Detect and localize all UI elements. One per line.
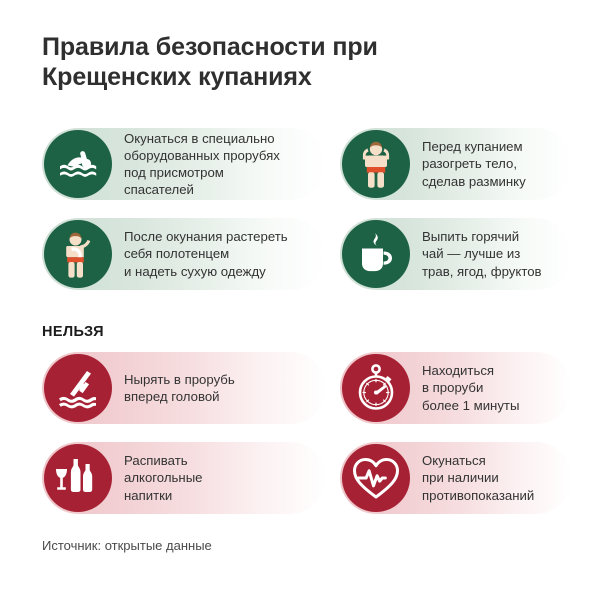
rule-card-towel-dry-clothes: После окунания растереть себя полотенцем… — [42, 218, 326, 290]
page-title: Правила безопасности при Крещенских купа… — [42, 32, 522, 92]
rule-card-text: Нырять в прорубь вперед головой — [124, 371, 235, 405]
source-note: Источник: открытые данные — [42, 538, 212, 553]
rule-card-text: Распивать алкогольные напитки — [124, 452, 203, 504]
swimmer-icon — [44, 130, 112, 198]
rule-card-text: Находиться в проруби более 1 минуты — [422, 362, 519, 414]
rule-card-hot-tea: Выпить горячий чай — лучше из трав, ягод… — [340, 218, 572, 290]
diving-person-icon — [44, 354, 112, 422]
person-with-towel-icon — [44, 220, 112, 288]
heart-pulse-icon — [342, 444, 410, 512]
rule-card-text: Окунаться при наличии противопоказаний — [422, 452, 534, 504]
infographic-root: Правила безопасности при Крещенских купа… — [0, 0, 600, 600]
rule-card-warm-up: Перед купанием разогреть тело, сделав ра… — [340, 128, 572, 200]
warmup-person-icon — [342, 130, 410, 198]
stopwatch-icon — [342, 354, 410, 422]
rule-card-text: Перед купанием разогреть тело, сделав ра… — [422, 138, 526, 190]
rule-card-no-long-immersion: Находиться в проруби более 1 минуты — [340, 352, 572, 424]
rule-card-text: После окунания растереть себя полотенцем… — [124, 228, 288, 280]
rule-card-no-diving: Нырять в прорубь вперед головой — [42, 352, 326, 424]
rule-card-no-contraindications: Окунаться при наличии противопоказаний — [340, 442, 572, 514]
rule-card-supervised-swimming: Окунаться в специально оборудованных про… — [42, 128, 326, 200]
hot-tea-cup-icon — [342, 220, 410, 288]
rule-card-no-alcohol: Распивать алкогольные напитки — [42, 442, 326, 514]
forbidden-section-heading: НЕЛЬЗЯ — [42, 324, 104, 340]
alcohol-bottles-icon — [44, 444, 112, 512]
rule-card-text: Окунаться в специально оборудованных про… — [124, 130, 280, 199]
rule-card-text: Выпить горячий чай — лучше из трав, ягод… — [422, 228, 542, 280]
